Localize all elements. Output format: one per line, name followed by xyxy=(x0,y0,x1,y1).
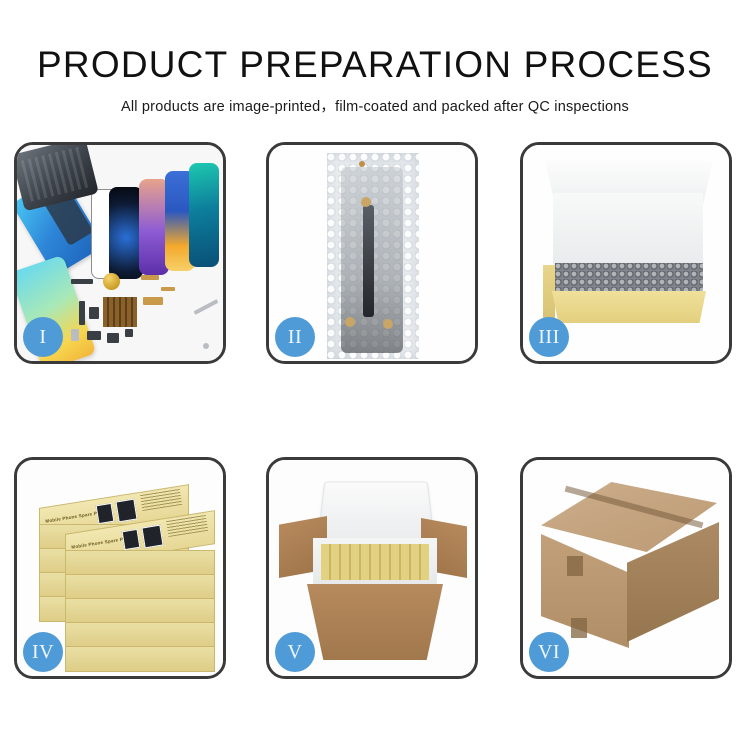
small-part xyxy=(141,275,159,280)
process-row-top: I II xyxy=(0,142,750,364)
phone-screen-black xyxy=(109,187,143,279)
bubble-wrap-layer xyxy=(555,263,703,293)
foam-lid xyxy=(317,481,435,542)
speaker-module-icon xyxy=(103,273,120,290)
process-step-card-6[interactable]: VI xyxy=(520,457,732,679)
process-step-card-3[interactable]: III xyxy=(520,142,732,364)
process-step-card-5[interactable]: V xyxy=(266,457,478,679)
connector-tab xyxy=(359,161,365,167)
step-badge-6: VI xyxy=(529,632,569,672)
process-step-card-4[interactable]: Mobile Phone Spare Parts Mobile Phone Sp… xyxy=(14,457,226,679)
process-step-card-2[interactable]: II xyxy=(266,142,478,364)
page-subtitle: All products are image-printed，film-coat… xyxy=(0,95,750,116)
step-badge-1: I xyxy=(23,317,63,357)
small-part xyxy=(161,287,175,291)
flex-cable xyxy=(363,205,374,317)
connector-tab xyxy=(345,317,355,327)
box-stack-layer xyxy=(65,646,215,672)
small-part xyxy=(107,333,119,343)
header: PRODUCT PREPARATION PROCESS All products… xyxy=(0,0,750,116)
small-part xyxy=(87,331,101,340)
small-part xyxy=(71,329,79,341)
box-stack-layer xyxy=(65,622,215,648)
small-part xyxy=(89,307,99,319)
box-window-screen xyxy=(141,525,163,549)
box-window-screen xyxy=(115,499,137,523)
box-stack-layer xyxy=(65,598,215,624)
foam-sheet xyxy=(553,193,703,265)
phone-back-housing xyxy=(17,145,99,211)
screw-part xyxy=(203,343,209,349)
step-badge-3: III xyxy=(529,317,569,357)
carton-tape-patch xyxy=(571,618,587,638)
box-front-kraft xyxy=(547,291,711,323)
screwdriver-tool xyxy=(194,299,219,315)
box-stack-layer xyxy=(65,574,215,600)
box-stack-layer xyxy=(65,550,215,576)
page-title: PRODUCT PREPARATION PROCESS xyxy=(0,44,750,86)
box-window-screen xyxy=(96,503,115,524)
phone-screen-teal xyxy=(189,163,219,267)
product-preparation-infographic: PRODUCT PREPARATION PROCESS All products… xyxy=(0,0,750,750)
connector-tab xyxy=(383,319,393,329)
carton-body xyxy=(307,584,443,660)
step-badge-5: V xyxy=(275,632,315,672)
step-badge-4: IV xyxy=(23,632,63,672)
connector-board xyxy=(103,297,137,327)
process-step-grid: I II xyxy=(0,142,750,679)
small-part xyxy=(125,329,133,337)
step-badge-2: II xyxy=(275,317,315,357)
process-row-bottom: Mobile Phone Spare Parts Mobile Phone Sp… xyxy=(0,457,750,679)
small-part xyxy=(71,279,93,284)
bubble-wrap-bag xyxy=(327,153,419,359)
small-part xyxy=(79,301,85,325)
process-step-card-1[interactable]: I xyxy=(14,142,226,364)
kraft-boxes-inside xyxy=(321,544,429,580)
box-window-screen xyxy=(122,529,141,550)
connector-tab xyxy=(361,197,371,207)
carton-tape-patch xyxy=(567,556,583,576)
small-part xyxy=(143,297,163,305)
